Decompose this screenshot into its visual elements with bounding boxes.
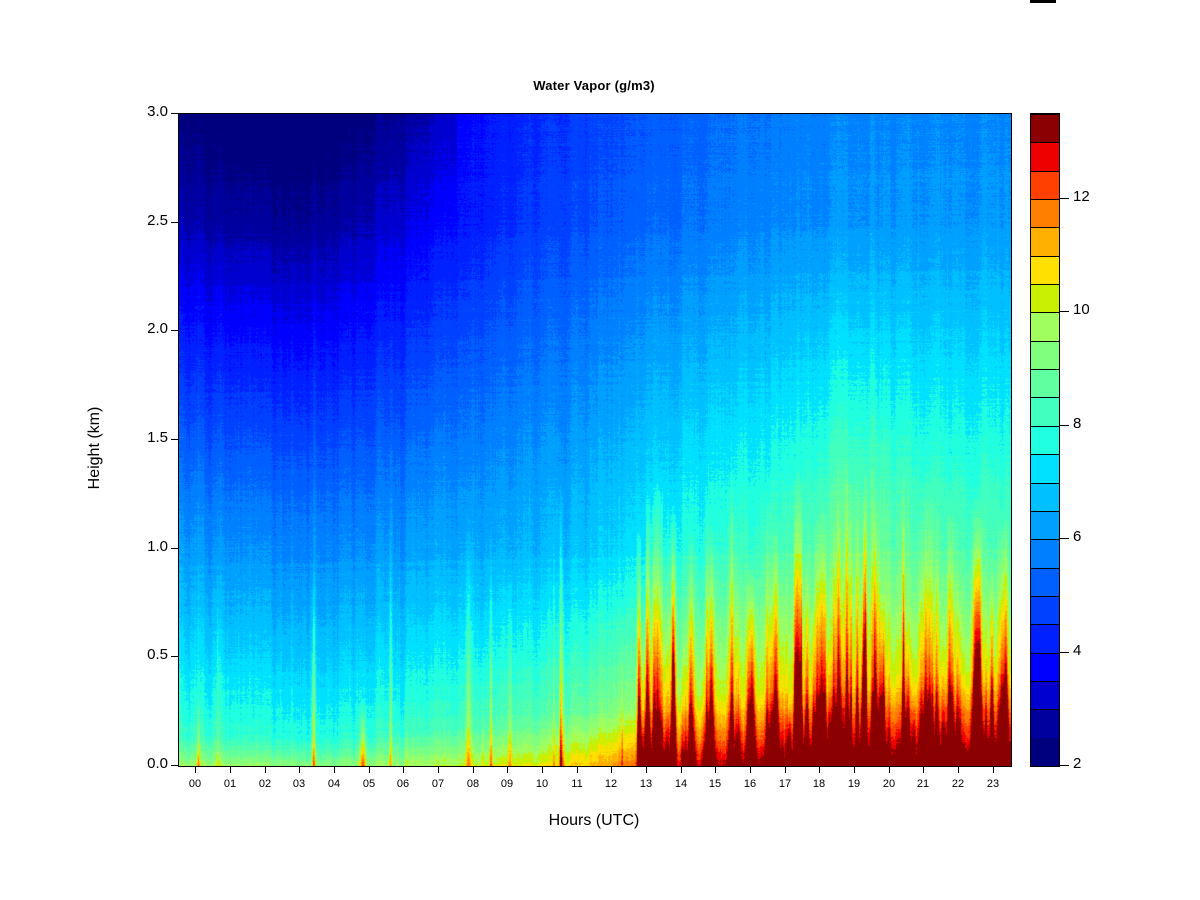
x-tick-mark: [473, 766, 474, 773]
colorbar-band: [1031, 369, 1059, 397]
colorbar-band: [1031, 511, 1059, 539]
x-tick-mark: [715, 766, 716, 773]
x-tick-mark: [785, 766, 786, 773]
x-tick-mark: [681, 766, 682, 773]
colorbar-tick-mark: [1060, 311, 1069, 312]
colorbar-tick-label: 2: [1073, 755, 1081, 772]
x-tick-label: 04: [319, 778, 349, 790]
x-tick-mark: [403, 766, 404, 773]
x-tick-mark: [854, 766, 855, 773]
colorbar: [1030, 113, 1060, 767]
colorbar-band: [1031, 312, 1059, 340]
x-tick-mark: [819, 766, 820, 773]
colorbar-band: [1031, 681, 1059, 709]
colorbar-band: [1031, 227, 1059, 255]
x-tick-label: 14: [666, 778, 696, 790]
colorbar-band: [1031, 256, 1059, 284]
colorbar-tick-mark: [1060, 652, 1069, 653]
colorbar-band: [1031, 199, 1059, 227]
x-tick-label: 13: [631, 778, 661, 790]
x-tick-mark: [265, 766, 266, 773]
colorbar-tick-label: 10: [1073, 301, 1090, 318]
x-tick-label: 00: [180, 778, 210, 790]
x-tick-mark: [369, 766, 370, 773]
x-tick-label: 03: [284, 778, 314, 790]
y-tick-mark: [171, 439, 178, 440]
y-tick-mark: [171, 330, 178, 331]
y-tick-mark: [171, 222, 178, 223]
x-tick-mark: [507, 766, 508, 773]
x-tick-label: 22: [943, 778, 973, 790]
colorbar-band: [1031, 142, 1059, 170]
clipped-colorbar-artifact: [1030, 0, 1056, 3]
y-tick-label: 2.0: [120, 320, 168, 337]
y-tick-label: 0.0: [120, 755, 168, 772]
x-tick-mark: [577, 766, 578, 773]
colorbar-tick-label: 4: [1073, 642, 1081, 659]
x-tick-mark: [195, 766, 196, 773]
colorbar-band: [1031, 341, 1059, 369]
x-tick-label: 12: [596, 778, 626, 790]
colorbar-tick-mark: [1060, 425, 1069, 426]
page-title: Water Vapor (g/m3): [178, 78, 1010, 93]
colorbar-band: [1031, 596, 1059, 624]
heatmap-plot-area: [178, 113, 1012, 767]
x-tick-label: 08: [458, 778, 488, 790]
x-tick-label: 06: [388, 778, 418, 790]
y-axis-label: Height (km): [86, 348, 104, 548]
colorbar-band: [1031, 709, 1059, 737]
x-tick-mark: [299, 766, 300, 773]
colorbar-band: [1031, 114, 1059, 142]
x-tick-label: 17: [770, 778, 800, 790]
colorbar-tick-mark: [1060, 538, 1069, 539]
x-tick-mark: [750, 766, 751, 773]
y-tick-label: 1.5: [120, 429, 168, 446]
x-tick-mark: [923, 766, 924, 773]
y-tick-label: 0.5: [120, 646, 168, 663]
heatmap-canvas: [179, 114, 1011, 766]
colorbar-band: [1031, 483, 1059, 511]
colorbar-tick-label: 12: [1073, 188, 1090, 205]
x-tick-mark: [993, 766, 994, 773]
colorbar-tick-mark: [1060, 198, 1069, 199]
x-tick-label: 21: [908, 778, 938, 790]
x-tick-label: 09: [492, 778, 522, 790]
y-tick-label: 2.5: [120, 212, 168, 229]
colorbar-band: [1031, 539, 1059, 567]
x-tick-label: 16: [735, 778, 765, 790]
x-tick-mark: [438, 766, 439, 773]
x-tick-label: 07: [423, 778, 453, 790]
colorbar-tick-label: 6: [1073, 528, 1081, 545]
x-tick-mark: [611, 766, 612, 773]
y-tick-label: 1.0: [120, 538, 168, 555]
colorbar-band: [1031, 624, 1059, 652]
x-tick-mark: [646, 766, 647, 773]
y-tick-mark: [171, 113, 178, 114]
y-tick-mark: [171, 548, 178, 549]
y-tick-mark: [171, 656, 178, 657]
colorbar-band: [1031, 653, 1059, 681]
colorbar-tick-label: 8: [1073, 415, 1081, 432]
x-tick-label: 18: [804, 778, 834, 790]
x-tick-mark: [889, 766, 890, 773]
colorbar-tick-mark: [1060, 765, 1069, 766]
colorbar-band: [1031, 397, 1059, 425]
x-tick-label: 19: [839, 778, 869, 790]
colorbar-band: [1031, 426, 1059, 454]
x-tick-label: 23: [978, 778, 1008, 790]
colorbar-band: [1031, 171, 1059, 199]
x-tick-mark: [958, 766, 959, 773]
x-tick-label: 20: [874, 778, 904, 790]
x-axis-label: Hours (UTC): [178, 812, 1010, 830]
x-tick-mark: [542, 766, 543, 773]
x-tick-label: 05: [354, 778, 384, 790]
x-tick-label: 02: [250, 778, 280, 790]
x-tick-label: 11: [562, 778, 592, 790]
colorbar-band: [1031, 284, 1059, 312]
y-tick-mark: [171, 765, 178, 766]
x-tick-mark: [334, 766, 335, 773]
x-tick-label: 15: [700, 778, 730, 790]
water-vapor-figure: Water Vapor (g/m3) 0.00.51.01.52.02.53.0…: [0, 0, 1200, 900]
colorbar-band: [1031, 454, 1059, 482]
x-tick-label: 01: [215, 778, 245, 790]
x-tick-label: 10: [527, 778, 557, 790]
colorbar-band: [1031, 738, 1059, 766]
y-tick-label: 3.0: [120, 103, 168, 120]
colorbar-band: [1031, 568, 1059, 596]
x-tick-mark: [230, 766, 231, 773]
